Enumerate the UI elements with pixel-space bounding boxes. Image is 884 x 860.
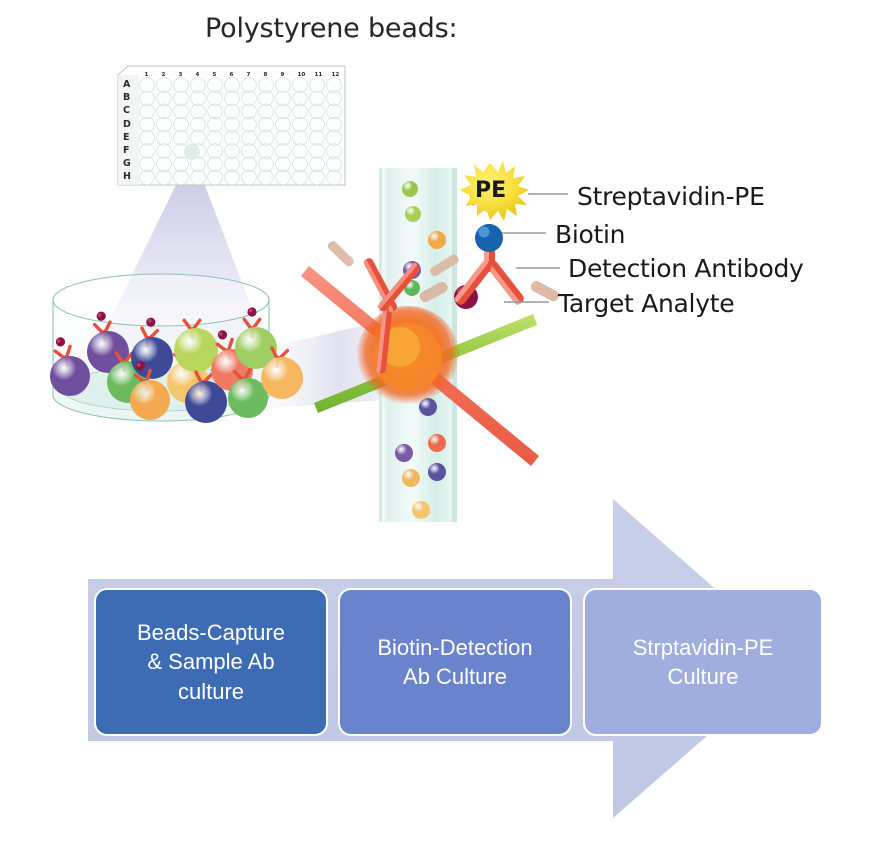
- petri-dish: [49, 274, 303, 423]
- plate-row-label-F: F: [123, 146, 130, 156]
- plate-col-label-1: 1: [145, 73, 149, 79]
- illuminated-bead: [356, 306, 460, 410]
- plate-col-label-4: 4: [196, 73, 200, 79]
- plate-row-label-B: B: [123, 93, 130, 103]
- legend-label-streptavidin-pe: Streptavidin-PE: [577, 182, 765, 211]
- workflow-step-streptavidin-pe[interactable]: Strptavidin-PE Culture: [583, 588, 823, 736]
- legend-label-biotin: Biotin: [555, 220, 625, 249]
- plate-row-label-H: H: [123, 172, 131, 182]
- plate-col-label-9: 9: [281, 73, 285, 79]
- pe-label: PE: [475, 178, 506, 203]
- workflow-step-biotin-detection[interactable]: Biotin-Detection Ab Culture: [338, 588, 572, 736]
- page-title: Polystyrene beads:: [205, 13, 457, 44]
- plate-col-label-3: 3: [179, 73, 183, 79]
- plate-col-label-2: 2: [162, 73, 166, 79]
- microplate: [118, 66, 345, 185]
- legend-label-detection-antibody: Detection Antibody: [568, 254, 804, 283]
- legend-label-target-analyte: Target Analyte: [558, 289, 734, 318]
- plate-col-label-10: 10: [298, 73, 306, 79]
- plate-col-label-11: 11: [315, 73, 323, 79]
- plate-col-label-6: 6: [230, 73, 234, 79]
- plate-row-label-G: G: [123, 159, 131, 169]
- plate-col-label-7: 7: [247, 73, 251, 79]
- plate-row-label-E: E: [123, 133, 130, 143]
- plate-col-label-12: 12: [332, 73, 340, 79]
- figure-canvas: Polystyrene beads: ABCDEFGH1234567891011…: [0, 0, 884, 860]
- plate-row-label-A: A: [123, 80, 130, 90]
- plate-col-label-8: 8: [264, 73, 268, 79]
- plate-row-label-C: C: [123, 106, 130, 116]
- plate-row-label-D: D: [123, 120, 131, 130]
- biotin-marker: [475, 224, 503, 252]
- workflow-step-beads-capture[interactable]: Beads-Capture & Sample Ab culture: [94, 588, 328, 736]
- plate-col-label-5: 5: [213, 73, 217, 79]
